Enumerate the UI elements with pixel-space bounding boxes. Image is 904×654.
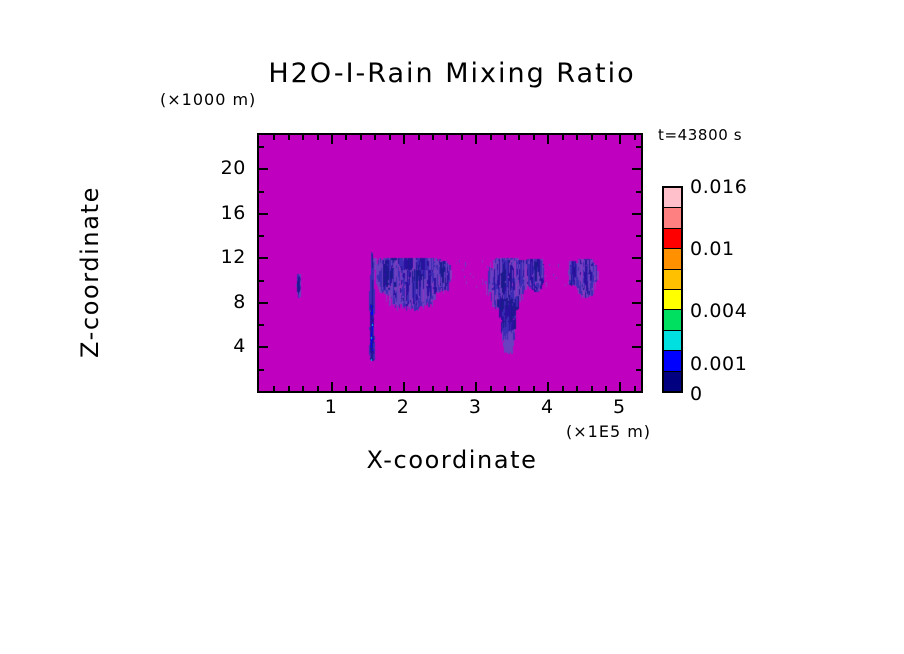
x-minor-tick: [446, 386, 448, 391]
x-minor-tick: [576, 386, 578, 391]
y-minor-tick: [259, 280, 264, 282]
x-tick-label: 1: [325, 396, 338, 418]
colorbar-band: [664, 330, 681, 350]
x-minor-tick: [345, 135, 347, 140]
x-minor-tick: [605, 135, 607, 140]
y-major-tick: [632, 168, 641, 170]
y-minor-tick: [259, 235, 264, 237]
colorbar-tick-label: 0: [690, 383, 703, 405]
x-minor-tick: [273, 386, 275, 391]
y-minor-tick: [636, 191, 641, 193]
colorbar-band: [664, 188, 681, 207]
y-minor-tick: [259, 146, 264, 148]
x-minor-tick: [446, 135, 448, 140]
timestamp-annotation: t=43800 s: [658, 126, 742, 144]
colorbar-band: [664, 309, 681, 329]
x-axis-title: X-coordinate: [0, 446, 904, 474]
y-major-tick: [632, 302, 641, 304]
x-minor-tick: [518, 135, 520, 140]
x-minor-tick: [302, 386, 304, 391]
x-minor-tick: [461, 386, 463, 391]
x-minor-tick: [418, 386, 420, 391]
plot-area: [257, 133, 643, 393]
colorbar-tick-label: 0.016: [690, 176, 747, 198]
y-minor-tick: [636, 369, 641, 371]
y-major-tick: [632, 257, 641, 259]
y-tick-label: 16: [200, 202, 246, 224]
y-tick-label: 12: [200, 246, 246, 268]
colorbar-band: [664, 371, 681, 391]
x-minor-tick: [461, 135, 463, 140]
x-minor-tick: [490, 386, 492, 391]
x-tick-label: 5: [613, 396, 626, 418]
x-minor-tick: [389, 386, 391, 391]
colorbar: [662, 186, 683, 393]
y-minor-tick: [259, 191, 264, 193]
x-major-tick: [547, 382, 549, 391]
y-major-tick: [259, 213, 268, 215]
y-minor-tick: [259, 369, 264, 371]
x-tick-label: 4: [541, 396, 554, 418]
y-major-tick: [259, 257, 268, 259]
x-tick-label: 3: [469, 396, 482, 418]
colorbar-tick-label: 0.001: [690, 353, 747, 375]
x-minor-tick: [317, 135, 319, 140]
x-major-tick: [619, 135, 621, 144]
y-major-tick: [259, 346, 268, 348]
y-tick-label: 4: [200, 335, 246, 357]
y-minor-tick: [259, 324, 264, 326]
x-minor-tick: [360, 135, 362, 140]
y-major-tick: [632, 346, 641, 348]
x-minor-tick: [576, 135, 578, 140]
y-major-tick: [632, 213, 641, 215]
x-major-tick: [619, 382, 621, 391]
y-minor-tick: [636, 235, 641, 237]
x-major-tick: [403, 382, 405, 391]
y-tick-label: 8: [200, 291, 246, 313]
x-minor-tick: [518, 386, 520, 391]
x-minor-tick: [504, 135, 506, 140]
y-major-tick: [259, 302, 268, 304]
x-minor-tick: [605, 386, 607, 391]
x-minor-tick: [591, 386, 593, 391]
y-minor-tick: [636, 280, 641, 282]
x-minor-tick: [302, 135, 304, 140]
x-minor-tick: [374, 135, 376, 140]
x-minor-tick: [389, 135, 391, 140]
x-minor-tick: [562, 386, 564, 391]
x-minor-tick: [288, 135, 290, 140]
colorbar-band: [664, 228, 681, 248]
x-minor-tick: [317, 386, 319, 391]
x-minor-tick: [288, 386, 290, 391]
x-major-tick: [475, 135, 477, 144]
x-minor-tick: [634, 386, 636, 391]
x-minor-tick: [374, 386, 376, 391]
colorbar-band: [664, 350, 681, 370]
x-minor-tick: [360, 386, 362, 391]
x-minor-tick: [533, 135, 535, 140]
y-axis-title: Z-coordinate: [76, 122, 104, 422]
colorbar-tick-label: 0.004: [690, 300, 747, 322]
y-tick-label: 20: [200, 157, 246, 179]
y-minor-tick: [636, 324, 641, 326]
x-minor-tick: [634, 135, 636, 140]
x-tick-label: 2: [397, 396, 410, 418]
x-minor-tick: [273, 135, 275, 140]
x-major-tick: [547, 135, 549, 144]
x-major-tick: [331, 135, 333, 144]
x-major-tick: [403, 135, 405, 144]
x-major-tick: [331, 382, 333, 391]
x-minor-tick: [490, 135, 492, 140]
x-major-tick: [475, 382, 477, 391]
x-minor-tick: [504, 386, 506, 391]
colorbar-tick-label: 0.01: [690, 238, 735, 260]
x-minor-tick: [345, 386, 347, 391]
x-minor-tick: [562, 135, 564, 140]
x-minor-tick: [432, 135, 434, 140]
y-major-tick: [259, 168, 268, 170]
y-axis-units-label: (×1000 m): [160, 90, 256, 109]
colorbar-band: [664, 289, 681, 309]
y-minor-tick: [636, 146, 641, 148]
page-title: H2O-I-Rain Mixing Ratio: [0, 58, 904, 89]
contour-field: [259, 135, 641, 391]
x-minor-tick: [432, 386, 434, 391]
x-minor-tick: [533, 386, 535, 391]
colorbar-band: [664, 248, 681, 268]
colorbar-band: [664, 269, 681, 289]
x-minor-tick: [591, 135, 593, 140]
colorbar-band: [664, 207, 681, 227]
x-minor-tick: [418, 135, 420, 140]
x-axis-units-label: (×1E5 m): [566, 422, 651, 441]
